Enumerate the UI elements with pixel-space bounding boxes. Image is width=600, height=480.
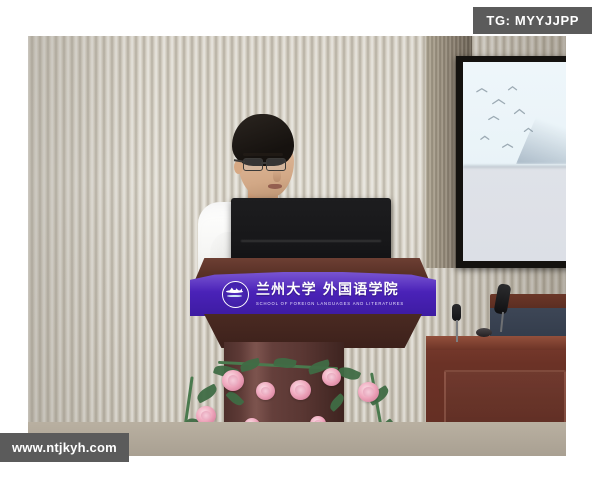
speaker-mouth: [268, 184, 282, 189]
speaker-brow: [243, 153, 283, 156]
glasses-bridge: [261, 162, 267, 164]
screenshot-canvas: 兰州大学 外国语学院 SCHOOL OF FOREIGN LANGUAGES A…: [0, 0, 600, 480]
speaker-nose: [273, 169, 281, 182]
side-table-edge: [426, 336, 566, 350]
microphone-head: [452, 304, 461, 321]
emblem-wave-1: [226, 290, 243, 293]
conference-photo: 兰州大学 外国语学院 SCHOOL OF FOREIGN LANGUAGES A…: [28, 36, 566, 456]
projector-screen-surface: [463, 62, 566, 261]
microphone-small: [452, 304, 461, 321]
glasses-lens-left: [243, 158, 263, 171]
telegram-watermark: TG: MYYJJPP: [473, 7, 592, 34]
leaf: [226, 389, 245, 408]
rose-flower: [290, 380, 311, 400]
banner-content: 兰州大学 外国语学院 SCHOOL OF FOREIGN LANGUAGES A…: [190, 281, 436, 308]
rose-flower: [358, 382, 379, 402]
table-microphone-base: [476, 328, 492, 337]
projector-screen: [456, 56, 566, 268]
leaf: [195, 383, 220, 403]
university-emblem-icon: [222, 281, 249, 308]
rose-flower: [322, 368, 341, 386]
banner-text-block: 兰州大学 外国语学院 SCHOOL OF FOREIGN LANGUAGES A…: [256, 283, 404, 307]
website-watermark: www.ntjkyh.com: [0, 433, 129, 462]
leaf: [239, 358, 261, 373]
microphone-stem: [456, 320, 458, 342]
microphone-large: [496, 284, 509, 314]
rose-flower: [222, 370, 244, 391]
leaf: [273, 356, 297, 370]
microphone-head: [493, 283, 511, 315]
banner-chinese-title: 兰州大学 外国语学院: [256, 283, 399, 298]
podium-banner: 兰州大学 外国语学院 SCHOOL OF FOREIGN LANGUAGES A…: [190, 272, 436, 316]
screen-birds-icon: [463, 62, 566, 260]
leaf: [327, 393, 346, 412]
banner-english-subtitle: SCHOOL OF FOREIGN LANGUAGES AND LITERATU…: [256, 300, 404, 307]
emblem-wave-2: [227, 295, 242, 297]
monitor-glare: [241, 240, 382, 242]
rose-flower: [256, 382, 275, 400]
